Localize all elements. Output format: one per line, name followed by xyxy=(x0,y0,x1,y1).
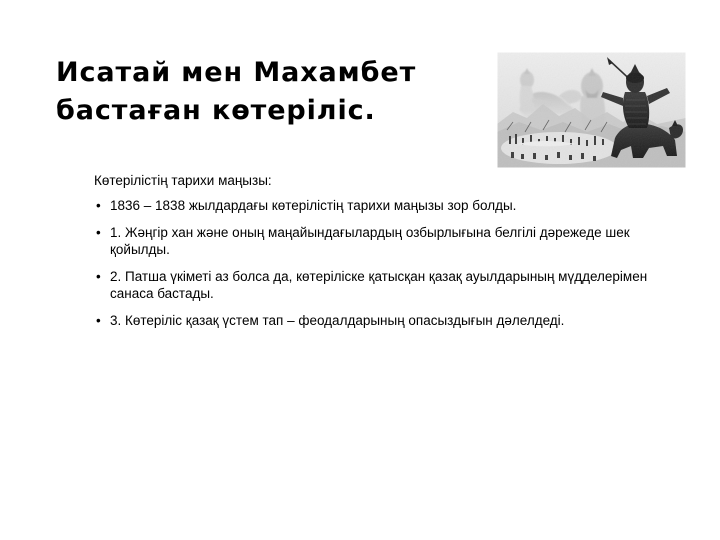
bullet-marker-icon: • xyxy=(96,224,101,242)
list-item-text: 1836 – 1838 жылдардағы көтерілістің тари… xyxy=(110,197,656,215)
list-item-text: 1. Жәңгір хан және оның маңайындағыларды… xyxy=(110,224,656,259)
illustration-artwork xyxy=(497,52,686,168)
page-title: Исатай мен Махамбет бастаған көтеріліс. xyxy=(56,54,476,130)
list-item: • 1. Жәңгір хан және оның маңайындағылар… xyxy=(94,224,656,259)
bullet-list: • 1836 – 1838 жылдардағы көтерілістің та… xyxy=(94,197,656,329)
bullet-marker-icon: • xyxy=(96,197,101,215)
list-item: • 3. Көтеріліс қазақ үстем тап – феодалд… xyxy=(94,312,656,330)
list-item: • 1836 – 1838 жылдардағы көтерілістің та… xyxy=(94,197,656,215)
presentation-slide: Исатай мен Махамбет бастаған көтеріліс. xyxy=(0,0,720,540)
bullet-marker-icon: • xyxy=(96,268,101,286)
list-item-text: 2. Патша үкіметі аз болса да, көтеріліск… xyxy=(110,268,656,303)
historical-battle-illustration xyxy=(497,52,686,168)
lead-text: Көтерілістің тарихи маңызы: xyxy=(94,172,656,189)
list-item-text: 3. Көтеріліс қазақ үстем тап – феодалдар… xyxy=(110,312,656,330)
content-body: Көтерілістің тарихи маңызы: • 1836 – 183… xyxy=(94,172,656,329)
bullet-marker-icon: • xyxy=(96,312,101,330)
list-item: • 2. Патша үкіметі аз болса да, көтерілі… xyxy=(94,268,656,303)
